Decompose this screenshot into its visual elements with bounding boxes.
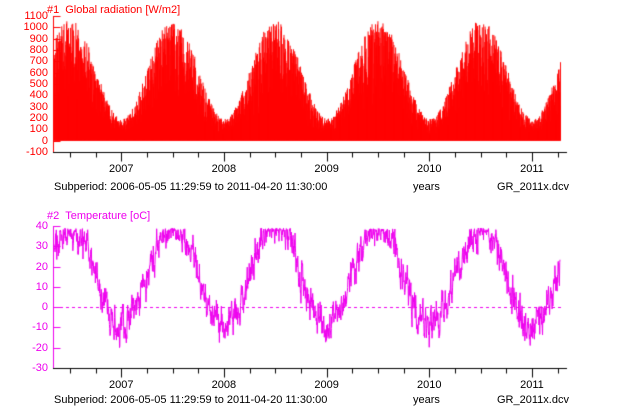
panel1-x-tick-label: 2007 bbox=[109, 163, 133, 175]
panel2-x-tick-label: 2009 bbox=[314, 379, 338, 391]
panel1-file-name: GR_2011x.dcv bbox=[497, 181, 569, 193]
panel1-x-tick-label: 2009 bbox=[314, 163, 338, 175]
panel1-x-tick-label: 2011 bbox=[520, 163, 544, 175]
plot-window: #1Global radiation [W/m2] 11001000900800… bbox=[0, 0, 618, 419]
panel2-x-tick-label: 2010 bbox=[417, 379, 441, 391]
panel2-x-axis-title: years bbox=[413, 394, 440, 406]
panel-global-radiation: #1Global radiation [W/m2] 11001000900800… bbox=[0, 0, 618, 200]
panel1-x-axis-title: years bbox=[413, 181, 440, 193]
panel-temperature: #2Temperature [oC] 403020100-10-20-30 20… bbox=[0, 206, 618, 419]
panel2-file-name: GR_2011x.dcv bbox=[497, 394, 569, 406]
panel1-subperiod: Subperiod: 2006-05-05 11:29:59 to 2011-0… bbox=[54, 181, 327, 193]
panel2-x-tick-label: 2008 bbox=[212, 379, 236, 391]
panel1-x-tick-label: 2008 bbox=[212, 163, 236, 175]
panel1-x-tick-label: 2010 bbox=[417, 163, 441, 175]
panel2-x-tick-label: 2011 bbox=[520, 379, 544, 391]
panel2-subperiod: Subperiod: 2006-05-05 11:29:59 to 2011-0… bbox=[54, 394, 327, 406]
panel2-x-tick-label: 2007 bbox=[109, 379, 133, 391]
